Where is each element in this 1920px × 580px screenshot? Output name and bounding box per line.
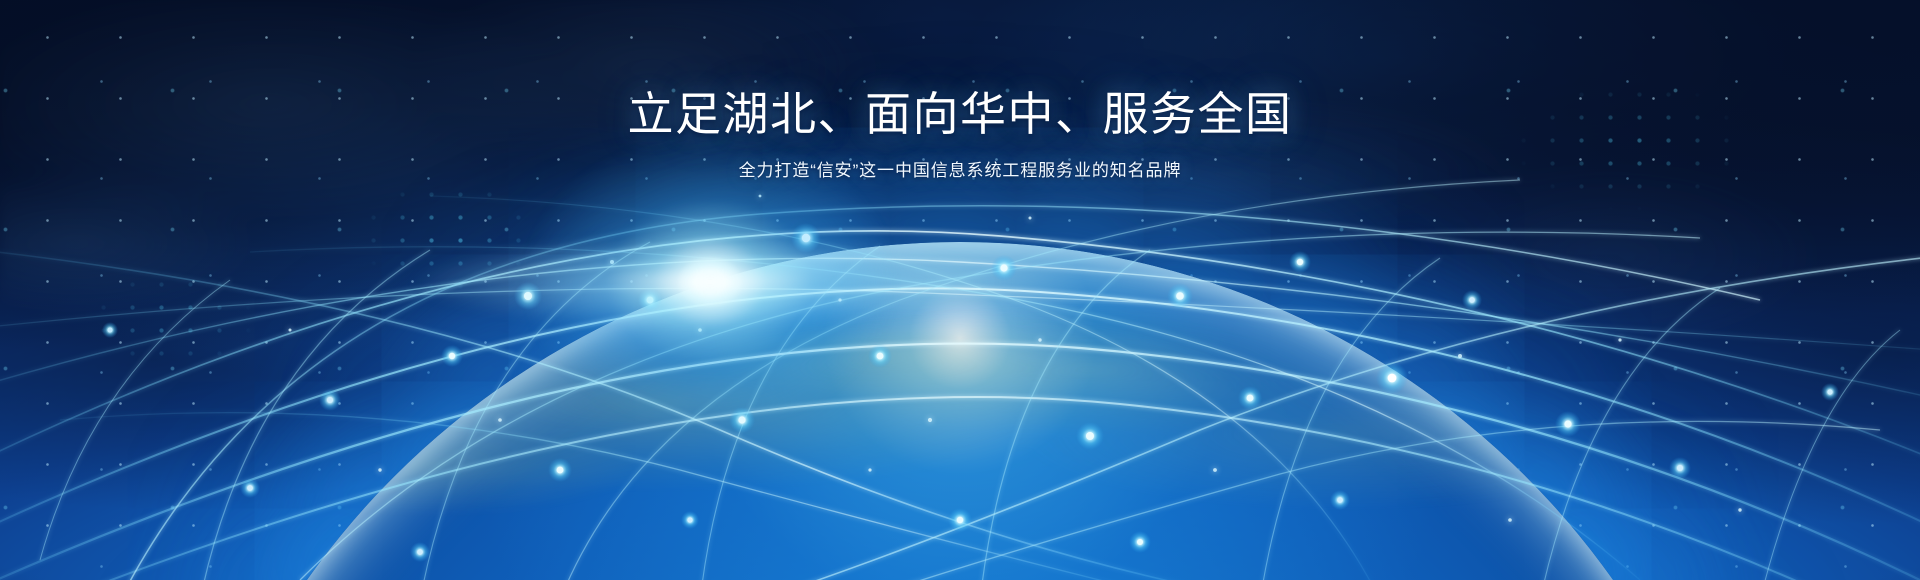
banner-copy: 立足湖北、面向华中、服务全国 全力打造“信安”这一中国信息系统工程服务业的知名品… xyxy=(0,86,1920,183)
star-cluster-lower-left xyxy=(60,250,280,390)
hero-banner: 立足湖北、面向华中、服务全国 全力打造“信安”这一中国信息系统工程服务业的知名品… xyxy=(0,0,1920,580)
banner-headline: 立足湖北、面向华中、服务全国 xyxy=(0,86,1920,144)
banner-subheadline: 全力打造“信安”这一中国信息系统工程服务业的知名品牌 xyxy=(0,158,1920,184)
flare-core xyxy=(676,256,744,308)
